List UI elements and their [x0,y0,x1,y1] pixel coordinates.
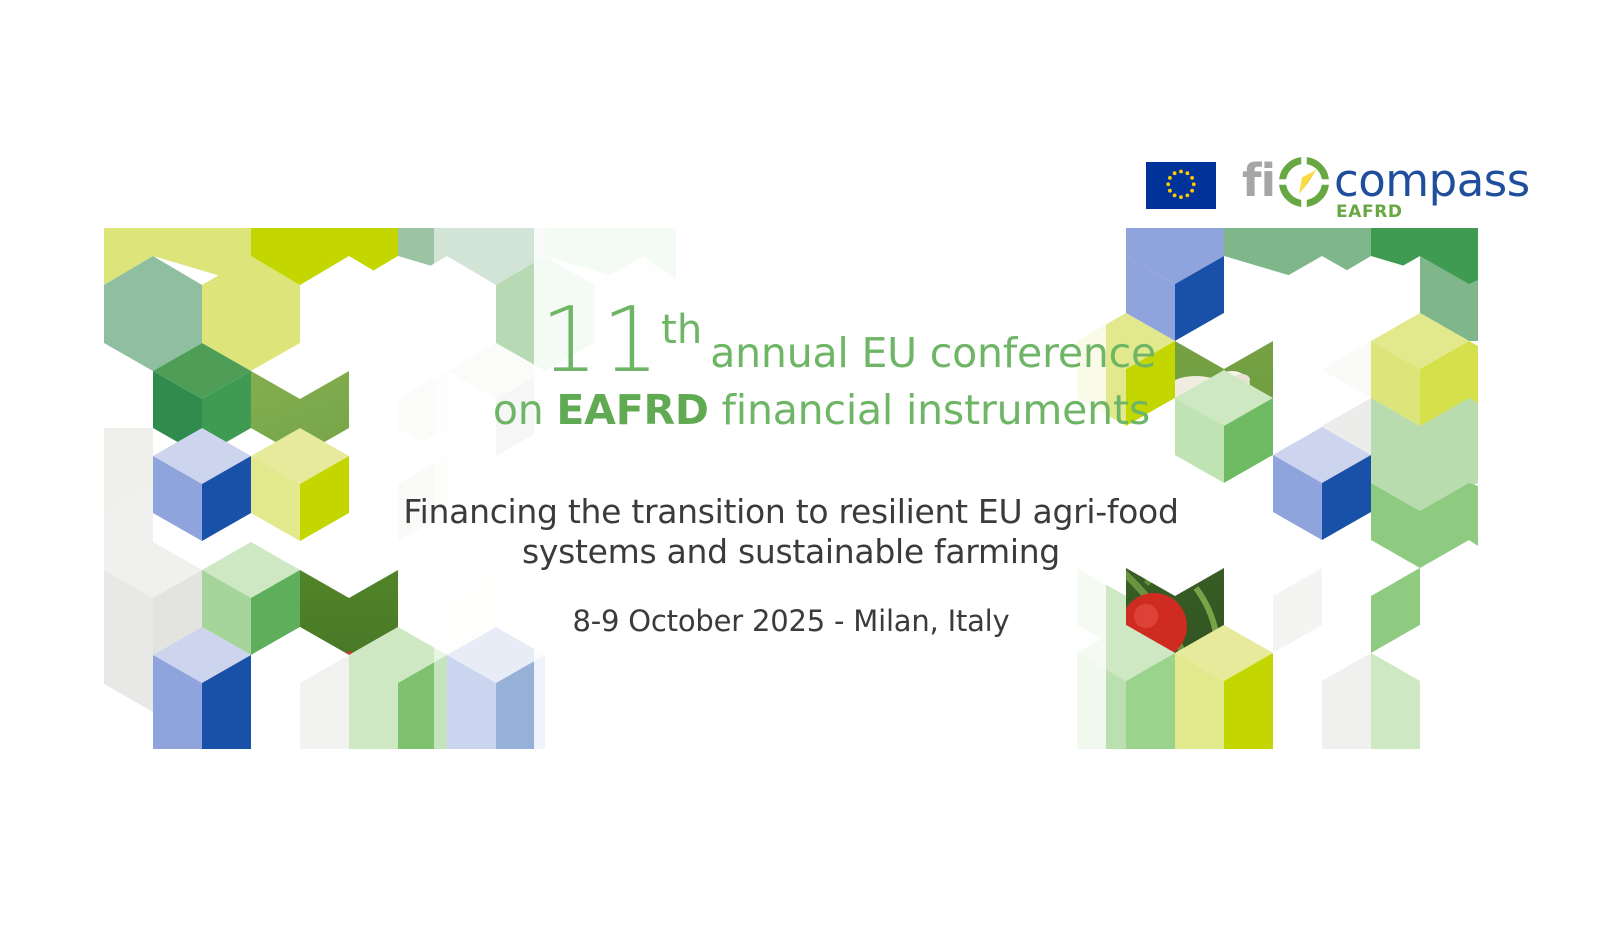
fi-compass-logo[interactable]: fi compass E [1146,158,1530,222]
compass-icon [1277,155,1331,209]
ordinal-suffix: th [661,307,702,353]
headline-line-2-suffix: financial instruments [709,386,1150,434]
compass-text: compass [1334,158,1530,204]
headline: 11thannual EU conference on EAFRD financ… [430,296,1150,433]
eu-flag [1146,162,1216,209]
fi-compass-wordmark: fi compass E [1242,158,1530,222]
headline-line-2-prefix: on [493,386,557,434]
headline-line-1-rest: annual EU conference [710,329,1156,377]
ordinal-number: 11 [541,288,664,393]
headline-eafrd-bold: EAFRD [556,386,708,434]
conference-banner: fi compass E [0,0,1600,941]
fi-text: fi [1242,158,1275,204]
subtitle: Financing the transition to resilient EU… [400,492,1182,573]
headline-line-2: on EAFRD financial instruments [430,388,1150,433]
event-date-location: 8-9 October 2025 - Milan, Italy [400,604,1182,638]
headline-line-1: 11thannual EU conference [430,296,1150,386]
compass-words: compass EAFRD [1334,158,1530,222]
cube-face [1469,228,1478,285]
